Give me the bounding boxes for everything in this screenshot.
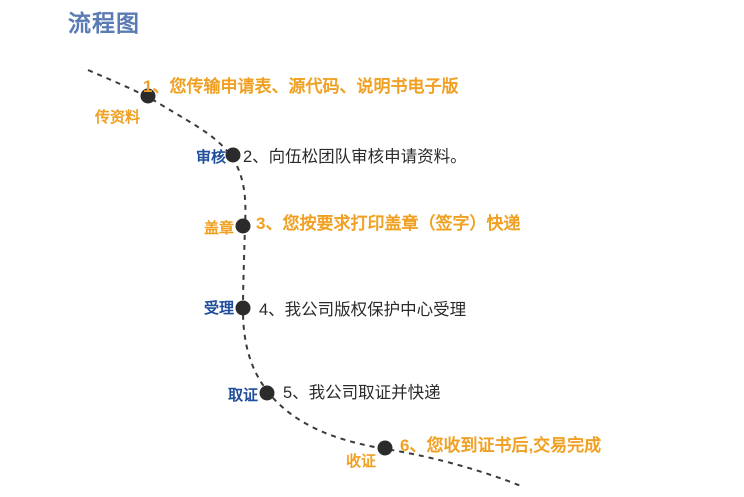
flow-node-text-6: 6、您收到证书后,交易完成 (400, 436, 601, 456)
flow-node-label-3: 盖章 (204, 220, 234, 238)
flow-node-label-4: 受理 (204, 300, 234, 318)
flowchart-canvas: 流程图 传资料1、您传输申请表、源代码、说明书电子版审核2、向伍松团队审核申请资… (0, 0, 744, 497)
flow-node-text-2: 2、向伍松团队审核申请资料。 (243, 147, 467, 167)
flow-node-label-2: 审核 (196, 149, 226, 167)
flow-path (0, 0, 744, 497)
flow-node-text-5: 5、我公司取证并快递 (283, 383, 441, 403)
flow-node-text-4: 4、我公司版权保护中心受理 (259, 300, 466, 320)
flow-node-label-5: 取证 (228, 387, 258, 405)
flow-node-dot-2 (226, 148, 241, 163)
flow-node-text-3: 3、您按要求打印盖章（签字）快递 (256, 214, 520, 234)
flow-dashed-curve (88, 70, 521, 486)
flow-node-dot-6 (378, 441, 393, 456)
flow-node-dot-3 (236, 219, 251, 234)
flow-node-dot-4 (236, 301, 251, 316)
flow-node-dot-5 (260, 386, 275, 401)
flow-node-label-6: 收证 (346, 453, 376, 471)
flow-node-label-1: 传资料 (95, 109, 140, 127)
flow-node-text-1: 1、您传输申请表、源代码、说明书电子版 (143, 77, 458, 97)
